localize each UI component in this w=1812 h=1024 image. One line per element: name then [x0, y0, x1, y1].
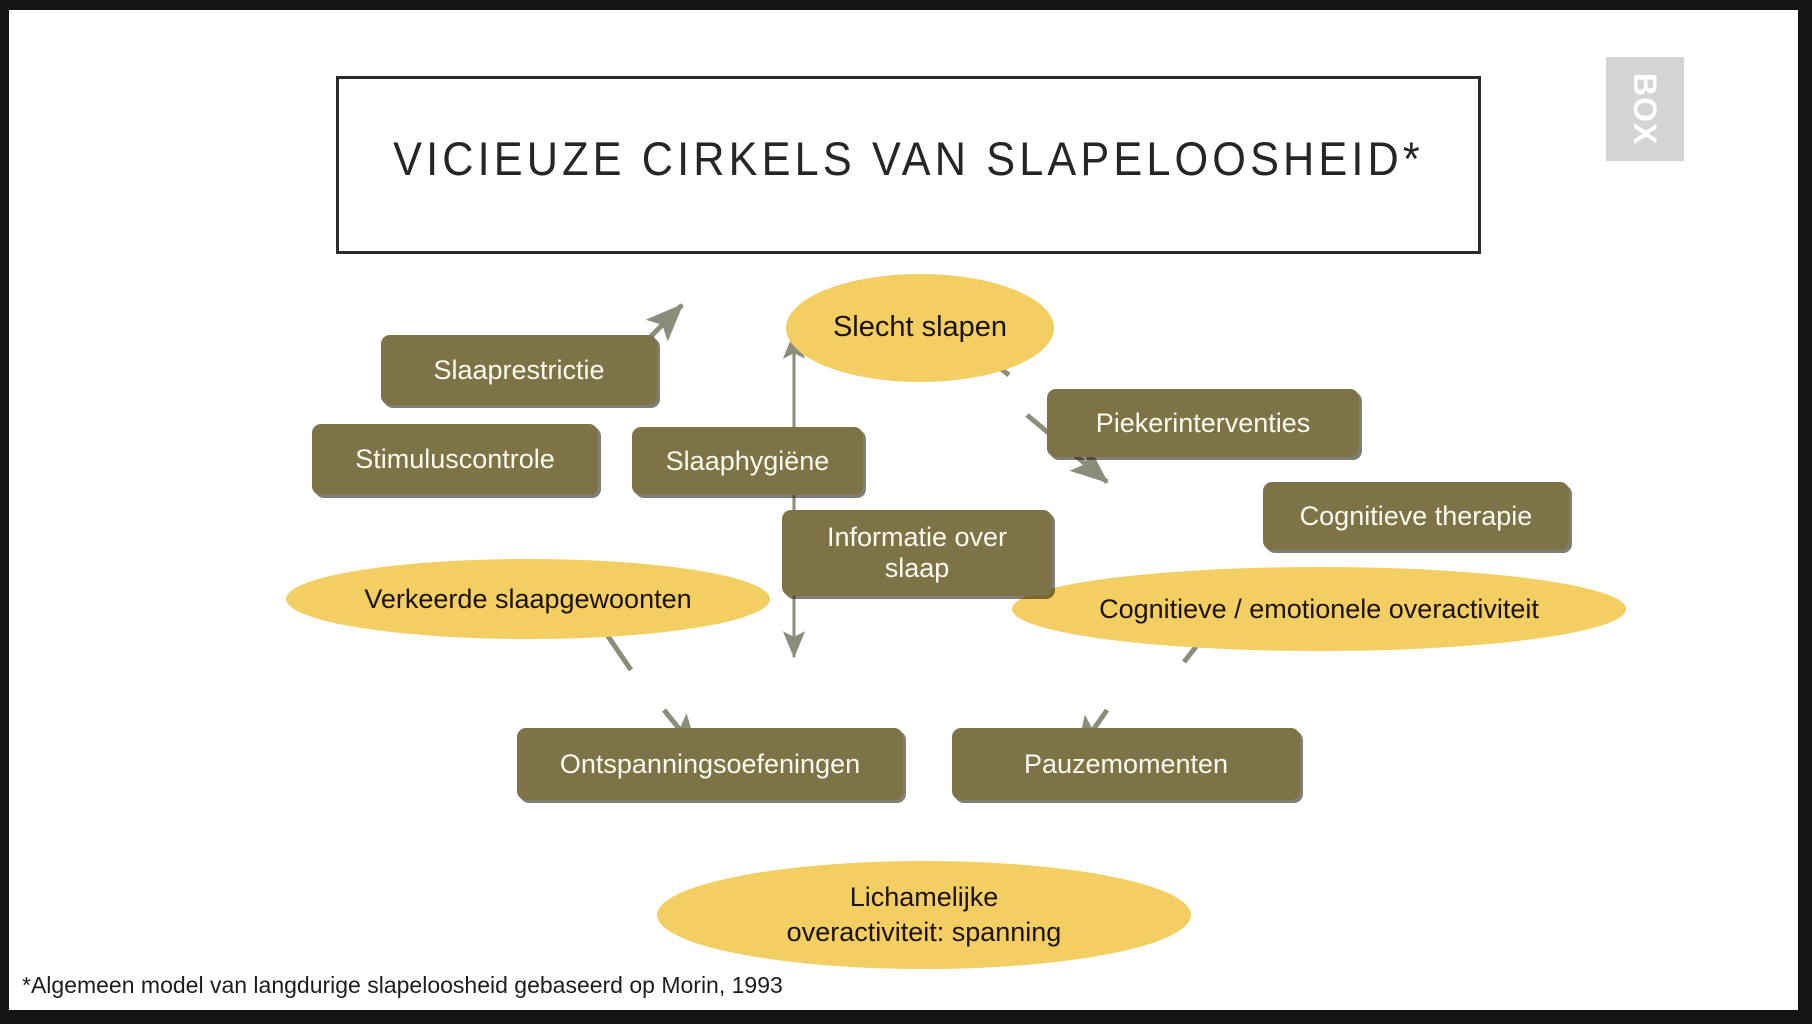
slide-frame: VICIEUZE CIRKELS VAN SLAPELOOSHEID* BOX	[0, 0, 1812, 1024]
node-label: Ontspanningsoefeningen	[560, 748, 860, 780]
node-cognitieve-emotionele-overactiviteit[interactable]: Cognitieve / emotionele overactiviteit	[1012, 567, 1626, 651]
node-cognitieve-therapie[interactable]: Cognitieve therapie	[1263, 482, 1569, 550]
node-piekerinterventies[interactable]: Piekerinterventies	[1047, 389, 1359, 457]
node-label: Slaaprestrictie	[433, 354, 604, 386]
node-stimuluscontrole[interactable]: Stimuluscontrole	[312, 424, 598, 495]
logo-text: BOX	[1632, 57, 1658, 161]
node-informatie-over-slaap[interactable]: Informatie over slaap	[782, 510, 1052, 596]
node-ontspanningsoefeningen[interactable]: Ontspanningsoefeningen	[517, 728, 903, 800]
node-label-line1: Informatie over	[827, 522, 1007, 553]
node-slaaphygiene[interactable]: Slaaphygiëne	[632, 427, 863, 495]
node-label: Stimuluscontrole	[355, 443, 555, 475]
node-label: Cognitieve therapie	[1300, 500, 1533, 532]
node-label: Pauzemomenten	[1024, 748, 1228, 780]
node-label: Slecht slapen	[833, 310, 1007, 345]
page-title: VICIEUZE CIRKELS VAN SLAPELOOSHEID*	[385, 131, 1433, 186]
node-slaaprestrictie[interactable]: Slaaprestrictie	[381, 335, 657, 405]
node-label: Slaaphygiëne	[666, 445, 830, 477]
node-label-line2: overactiviteit: spanning	[787, 915, 1062, 950]
node-label-line2: slaap	[885, 553, 950, 584]
node-label: Verkeerde slaapgewoonten	[364, 583, 691, 616]
node-label: Cognitieve / emotionele overactiviteit	[1099, 593, 1539, 626]
slide-canvas: VICIEUZE CIRKELS VAN SLAPELOOSHEID* BOX	[9, 10, 1798, 1010]
node-pauzemomenten[interactable]: Pauzemomenten	[952, 728, 1300, 800]
box-logo-icon: BOX	[1606, 57, 1684, 161]
footnote: *Algemeen model van langdurige slapeloos…	[22, 972, 783, 999]
node-lichamelijke-overactiviteit[interactable]: Lichamelijke overactiviteit: spanning	[657, 861, 1191, 969]
node-label: Piekerinterventies	[1096, 407, 1311, 439]
node-verkeerde-slaapgewoonten[interactable]: Verkeerde slaapgewoonten	[286, 559, 770, 639]
node-slecht-slapen[interactable]: Slecht slapen	[786, 274, 1054, 382]
node-label-line1: Lichamelijke	[850, 880, 999, 915]
title-box: VICIEUZE CIRKELS VAN SLAPELOOSHEID*	[336, 76, 1481, 254]
